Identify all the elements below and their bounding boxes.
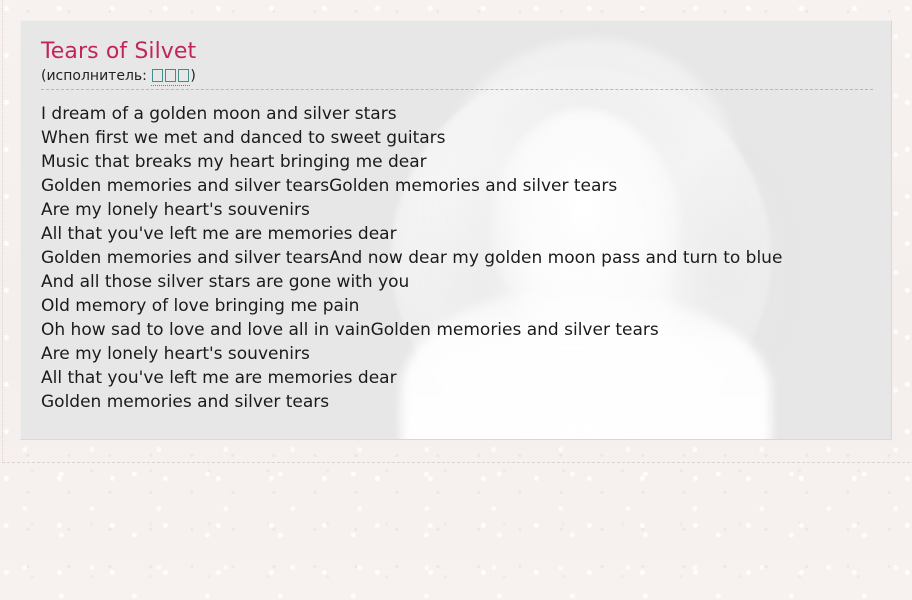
lyrics-card: Tears of Silvet (исполнитель: ) I dream … xyxy=(20,20,892,440)
lyric-line: Golden memories and silver tearsGolden m… xyxy=(41,174,891,198)
page-title: Tears of Silvet xyxy=(41,39,873,65)
lyrics-text: I dream of a golden moon and silver star… xyxy=(21,90,891,414)
artist-suffix: ) xyxy=(190,68,195,84)
lyric-line: All that you've left me are memories dea… xyxy=(41,222,891,246)
lyric-line: Are my lonely heart's souvenirs xyxy=(41,342,891,366)
lyric-line: All that you've left me are memories dea… xyxy=(41,366,891,390)
missing-glyph-box-2 xyxy=(165,69,176,82)
lyric-line: Are my lonely heart's souvenirs xyxy=(41,198,891,222)
artist-label: (исполнитель: xyxy=(41,68,151,84)
lyric-line: I dream of a golden moon and silver star… xyxy=(41,102,891,126)
lyrics-header: Tears of Silvet (исполнитель: ) xyxy=(21,21,891,85)
missing-glyph-box-3 xyxy=(178,69,189,82)
lyric-line: When first we met and danced to sweet gu… xyxy=(41,126,891,150)
lyric-line: Golden memories and silver tearsAnd now … xyxy=(41,246,891,270)
missing-glyph-box-1 xyxy=(152,69,163,82)
lyric-line: Oh how sad to love and love all in vainG… xyxy=(41,318,891,342)
lyric-line: Old memory of love bringing me pain xyxy=(41,294,891,318)
artist-line: (исполнитель: ) xyxy=(41,67,873,85)
artist-link[interactable] xyxy=(151,68,190,86)
lyric-line: And all those silver stars are gone with… xyxy=(41,270,891,294)
lyric-line: Golden memories and silver tears xyxy=(41,390,891,414)
lyric-line: Music that breaks my heart bringing me d… xyxy=(41,150,891,174)
